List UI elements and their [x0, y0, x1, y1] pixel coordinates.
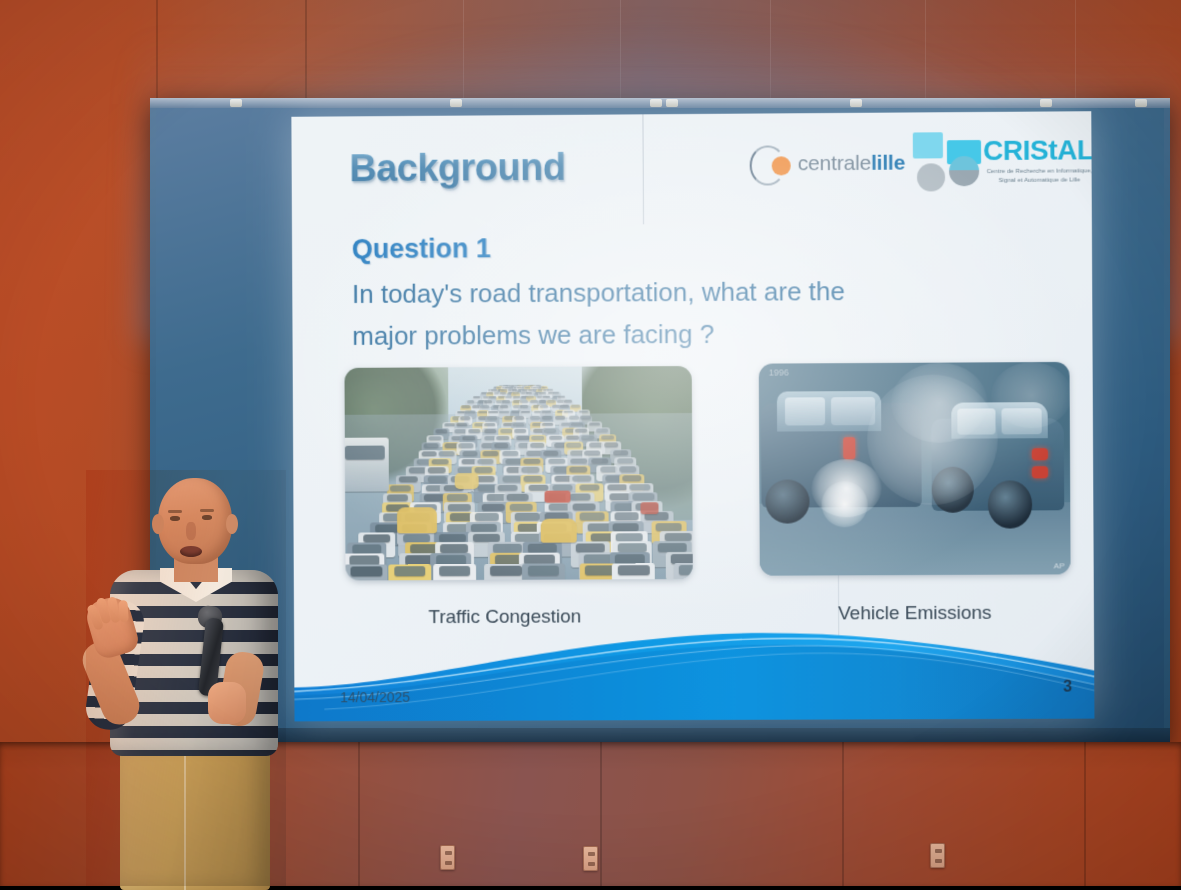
presenter-eyebrow	[168, 510, 182, 513]
slide-title: Background	[349, 147, 565, 191]
presenter-nose	[186, 522, 196, 540]
wainscot-seam	[842, 742, 844, 886]
cristal-square-icon	[913, 132, 943, 158]
centralelille-logo: centralelille	[746, 141, 906, 190]
cristal-circle-icon	[949, 156, 979, 186]
centralelille-light-text: centrale	[798, 152, 871, 176]
wall-outlet	[440, 845, 455, 870]
question-line-2: major problems we are facing ?	[352, 312, 1040, 358]
presenter-trousers	[120, 742, 270, 890]
wainscot-seam	[358, 742, 360, 886]
projector-seam-line	[642, 114, 644, 224]
presenter-ear	[152, 514, 164, 534]
presenter-ear	[226, 514, 238, 534]
ap-watermark: AP	[1054, 561, 1065, 570]
cristal-logo: CRIStAL Centre de Recherche en Informati…	[911, 129, 1072, 192]
slide-footer-wave	[294, 622, 1094, 721]
presenter-mouth	[180, 546, 202, 557]
cristal-logo-name: CRIStAL	[983, 134, 1094, 167]
cristal-logo-subtitle: Centre de Recherche en Informatique, Sig…	[979, 167, 1094, 186]
presenter-eye	[202, 515, 212, 520]
centralelille-bold-text: lille	[871, 152, 905, 175]
cristal-circle-icon	[917, 163, 945, 191]
question-line-1: In today's road transportation, what are…	[352, 270, 1040, 316]
photo-year-stamp: 1996	[769, 367, 789, 377]
trouser-crease	[184, 746, 186, 890]
wainscot-seam	[600, 742, 602, 886]
vehicle-emissions-photo: 1996 AP	[759, 362, 1071, 576]
wall-outlet	[583, 846, 598, 871]
centralelille-logo-text: centralelille	[798, 152, 905, 177]
presenter-person	[86, 470, 286, 886]
traffic-congestion-photo	[344, 366, 692, 580]
orange-dot-icon	[772, 156, 791, 175]
presentation-slide: Background centralelille CRIStAL Centre …	[291, 111, 1094, 721]
slide-page-number: 3	[1063, 679, 1072, 697]
question-body: In today's road transportation, what are…	[352, 270, 1040, 357]
wall-outlet	[930, 843, 945, 868]
screen-bezel-top	[150, 98, 1170, 108]
wainscot-seam	[1084, 742, 1086, 886]
question-heading: Question 1	[352, 233, 491, 265]
presenter-eye	[170, 516, 180, 521]
conference-room-background: Background centralelille CRIStAL Centre …	[0, 0, 1181, 886]
wave-graphic	[294, 622, 1094, 721]
presenter-eyebrow	[200, 509, 214, 512]
slide-footer-date: 14/04/2025	[340, 689, 410, 705]
presenter-right-hand	[208, 682, 246, 724]
